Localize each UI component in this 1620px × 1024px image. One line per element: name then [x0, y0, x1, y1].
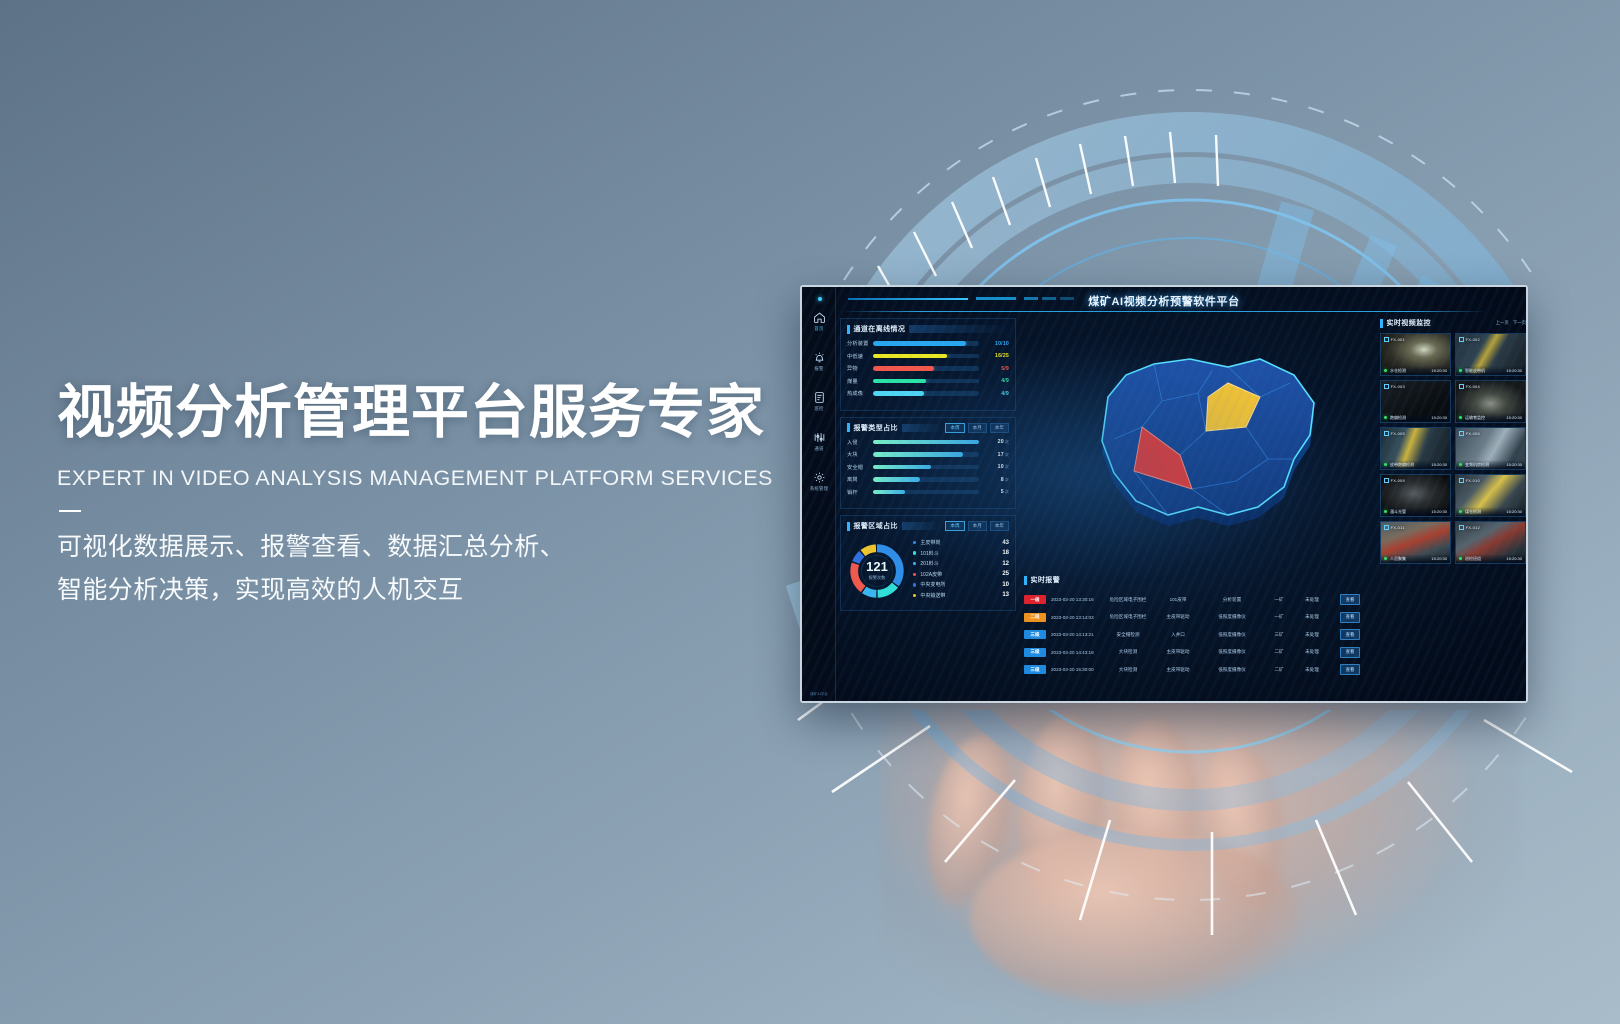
camera-footer: 跑偏检测 15:20:30	[1381, 413, 1450, 422]
cell-status: 未处理	[1296, 649, 1328, 655]
camera-time: 15:20:30	[1506, 415, 1522, 420]
legend-row: 101料斗 18	[913, 550, 1009, 557]
legend-value: 10	[1002, 582, 1009, 588]
panel-header: 报警类型占比 本周本月本年	[847, 423, 1009, 433]
camera-id: FX-009	[1384, 478, 1405, 483]
alarm-type-bar-list: 入侵 20次 大块 17次 安全帽 10次 离岗 8次 销杆 5次	[847, 439, 1009, 496]
alarm-area-period-tab[interactable]: 本周	[945, 521, 964, 531]
alarm-type-period-tab[interactable]: 本周	[945, 423, 964, 433]
legend-label: 102A皮带	[920, 571, 1002, 578]
bar-label: 热成像	[847, 390, 873, 397]
camera-footer: 人员聚集 15:20:30	[1381, 554, 1450, 563]
camera-name: 巡检班组	[1465, 556, 1481, 562]
status-dot-icon	[1384, 369, 1387, 372]
accent-bar	[847, 522, 850, 531]
table-row[interactable]: 一级 2023-03-20 13:30:16 危险区域电子围栏 101皮带 分析…	[1024, 591, 1372, 609]
camera-footer: 巡检班组 15:20:30	[1456, 554, 1525, 563]
camera-tile[interactable]: FX-012 巡检班组 15:20:30	[1455, 521, 1526, 564]
status-badge: 三级	[1024, 648, 1046, 657]
sidebar-item-label: 首页	[814, 326, 823, 332]
cell-mine: 三矿	[1262, 632, 1296, 638]
legend-value: 18	[1002, 550, 1009, 556]
camera-tile[interactable]: FX-010 煤仓检测 15:20:30	[1455, 474, 1526, 517]
view-button[interactable]: 查看	[1340, 594, 1361, 605]
camera-id: FX-004	[1459, 384, 1480, 389]
next-page-button[interactable]: 下一页	[1513, 320, 1526, 326]
cell-status: 未处理	[1296, 632, 1328, 638]
camera-id: FX-006	[1459, 431, 1480, 436]
alarm-type-period-tab[interactable]: 本月	[968, 423, 987, 433]
left-panel-column: 通道在离线情况 分析装置 10/10 中低速 16/25 异物 5/9 煤量 4…	[840, 318, 1016, 617]
bar-value: 4/9	[979, 391, 1009, 397]
bar-fill	[873, 452, 963, 457]
camera-time: 15:20:30	[1431, 368, 1447, 373]
camera-tile[interactable]: FX-011 人员聚集 15:20:30	[1380, 521, 1451, 564]
cell-device: 低照度摄像仪	[1202, 667, 1262, 673]
cell-device: 分析装置	[1202, 597, 1262, 603]
camera-id: FX-005	[1384, 431, 1405, 436]
status-badge: 三级	[1024, 665, 1046, 674]
camera-tile[interactable]: FX-009 溜斗光管 15:20:30	[1380, 474, 1451, 517]
header-strip	[902, 424, 941, 432]
camera-id: FX-003	[1384, 384, 1405, 389]
view-button[interactable]: 查看	[1340, 612, 1361, 623]
channel-bar-row: 分析装置 10/10	[847, 340, 1009, 347]
sidebar: 首页 报警 巡检 通道	[802, 287, 836, 701]
legend-value: 43	[1002, 540, 1009, 546]
period-tabs: 本周本月本年	[945, 423, 1009, 433]
bar-track	[873, 391, 979, 396]
sidebar-item-inspection[interactable]: 巡检	[802, 381, 836, 421]
bar-value: 4/9	[979, 378, 1009, 384]
monitor-frame: 煤矿AI视频分析预警软件平台 首页 报警	[800, 285, 1528, 703]
legend-value: 12	[1002, 561, 1009, 567]
camera-footer: 皮带跑偏检测 15:20:30	[1381, 460, 1450, 469]
legend-value: 13	[1002, 592, 1009, 598]
cell-type: 大块检测	[1102, 649, 1154, 655]
bar-value: 20次	[979, 439, 1009, 445]
bar-track	[873, 440, 979, 445]
cell-action: 查看	[1328, 664, 1372, 675]
bar-fill	[873, 490, 905, 495]
panel-title: 通道在离线情况	[854, 324, 906, 334]
bar-fill	[873, 354, 947, 359]
channel-bar-row: 中低速 16/25	[847, 353, 1009, 360]
donut-center-label: 报警次数	[869, 575, 886, 581]
cell-mine: 一矿	[1262, 614, 1296, 620]
legend-color-dot	[913, 551, 916, 554]
bar-track	[873, 477, 979, 482]
alarm-type-row: 离岗 8次	[847, 476, 1009, 483]
alarm-icon	[813, 351, 826, 364]
legend-row: 201料斗 12	[913, 560, 1009, 567]
alarm-area-panel: 报警区域占比 本周本月本年 121 报警次数 主皮带岗 43	[840, 515, 1016, 611]
bar-track	[873, 490, 979, 495]
sidebar-item-label: 通道	[814, 446, 823, 452]
camera-footer: 水仓检测 15:20:30	[1381, 366, 1450, 375]
cell-device: 低照度摄像仪	[1202, 614, 1262, 620]
cell-place: 主皮带驱动	[1154, 614, 1202, 620]
bar-value: 17次	[979, 452, 1009, 458]
channel-bar-row: 煤量 4/9	[847, 378, 1009, 385]
bar-fill	[873, 440, 979, 445]
status-dot-icon	[1384, 510, 1387, 513]
panel-title: 实时视频监控	[1387, 318, 1431, 328]
channel-bar-row: 热成像 4/9	[847, 390, 1009, 397]
camera-footer: 运输巷监控 15:20:30	[1456, 413, 1525, 422]
cell-time: 2023-03-20 13:14:03	[1046, 615, 1102, 620]
table-row[interactable]: 二级 2023-03-20 13:14:03 危险区域电子围栏 主皮带驱动 低照…	[1024, 609, 1372, 627]
camera-time: 15:20:30	[1431, 509, 1447, 514]
home-icon	[813, 311, 826, 324]
bar-fill	[873, 366, 934, 371]
camera-name: 皮带跑偏检测	[1390, 462, 1414, 468]
cell-mine: 二矿	[1262, 667, 1296, 673]
bar-track	[873, 366, 979, 371]
status-dot-icon	[1384, 557, 1387, 560]
bar-value: 5/9	[979, 366, 1009, 372]
cell-action: 查看	[1328, 629, 1372, 640]
bar-label: 离岗	[847, 476, 873, 483]
cell-type: 安全帽检测	[1102, 632, 1154, 638]
view-button[interactable]: 查看	[1340, 647, 1361, 658]
legend-color-dot	[913, 562, 916, 565]
cell-mine: 二矿	[1262, 649, 1296, 655]
sidebar-logo-text: 煤矿AI平台	[802, 692, 836, 697]
alarm-type-panel: 报警类型占比 本周本月本年 入侵 20次 大块 17次 安全帽 10次 离岗 8	[840, 417, 1016, 510]
bar-value: 5次	[979, 489, 1009, 495]
status-dot-icon	[1459, 416, 1462, 419]
table-row[interactable]: 三级 2023-03-20 14:43:18 大块检测 主皮带驱动 低照度摄像仪…	[1024, 644, 1372, 662]
status-dot-icon	[1459, 557, 1462, 560]
legend-label: 中央变电所	[920, 581, 1002, 588]
video-monitor-panel: 实时视频监控 上一页 下一页 FX-001 水仓检测 15:20:30 FX-0…	[1380, 318, 1526, 697]
prev-page-button[interactable]: 上一页	[1496, 320, 1509, 326]
legend-row: 102A皮带 25	[913, 571, 1009, 578]
channel-status-panel: 通道在离线情况 分析装置 10/10 中低速 16/25 异物 5/9 煤量 4…	[840, 318, 1016, 411]
period-tabs: 本周本月本年	[945, 521, 1009, 531]
bar-fill	[873, 477, 920, 482]
status-badge: 一级	[1024, 595, 1046, 604]
bar-value: 10次	[979, 464, 1009, 470]
bar-label: 入侵	[847, 439, 873, 446]
status-dot-icon	[1459, 510, 1462, 513]
cell-type: 危险区域电子围栏	[1102, 597, 1154, 603]
channel-icon	[813, 431, 826, 444]
camera-time: 15:20:30	[1506, 556, 1522, 561]
camera-time: 15:20:30	[1506, 462, 1522, 467]
legend-value: 25	[1002, 571, 1009, 577]
dashboard: 煤矿AI视频分析预警软件平台 首页 报警	[802, 287, 1526, 701]
camera-id: FX-012	[1459, 525, 1480, 530]
bar-label: 煤量	[847, 378, 873, 385]
alarm-area-period-tab[interactable]: 本月	[968, 521, 987, 531]
hero-subtitle: EXPERT IN VIDEO ANALYSIS MANAGEMENT PLAT…	[57, 466, 847, 491]
bar-track	[873, 465, 979, 470]
bar-value: 16/25	[979, 353, 1009, 359]
cell-place: 主皮带驱动	[1154, 649, 1202, 655]
bar-label: 大块	[847, 451, 873, 458]
legend-row: 主皮带岗 43	[913, 539, 1009, 546]
page-title: 视频分析管理平台服务专家	[57, 383, 847, 444]
camera-name: 运输巷监控	[1465, 415, 1485, 421]
status-dot-icon	[1384, 416, 1387, 419]
header-strip	[909, 325, 1009, 333]
cell-place: 主皮带驱动	[1154, 667, 1202, 673]
bar-track	[873, 341, 979, 346]
bar-label: 中低速	[847, 353, 873, 360]
panel-header: 通道在离线情况	[847, 324, 1009, 334]
channel-bar-row: 异物 5/9	[847, 365, 1009, 372]
camera-time: 15:20:30	[1506, 509, 1522, 514]
sidebar-item-home[interactable]: 首页	[802, 301, 836, 341]
bar-value: 8次	[979, 477, 1009, 483]
sidebar-item-label: 报警	[814, 366, 823, 372]
cell-time: 2023-03-20 14:43:18	[1046, 650, 1102, 655]
view-button[interactable]: 查看	[1340, 629, 1361, 640]
bar-fill	[873, 341, 966, 346]
panel-header: 实时报警	[1024, 575, 1372, 585]
realtime-alarm-panel: 实时报警 一级 2023-03-20 13:30:16 危险区域电子围栏 101…	[1024, 575, 1372, 679]
camera-name: 智能皮带机	[1465, 368, 1485, 374]
cell-type: 危险区域电子围栏	[1102, 614, 1154, 620]
bar-fill	[873, 465, 931, 470]
camera-time: 15:20:30	[1506, 368, 1522, 373]
camera-id: FX-010	[1459, 478, 1480, 483]
camera-name: 变频机房检测	[1465, 462, 1489, 468]
camera-id: FX-002	[1459, 337, 1480, 342]
bar-track	[873, 354, 979, 359]
camera-footer: 溜斗光管 15:20:30	[1381, 507, 1450, 516]
camera-tile[interactable]: FX-001 水仓检测 15:20:30	[1380, 333, 1451, 376]
bar-label: 销杆	[847, 489, 873, 496]
sidebar-item-label: 巡检	[814, 406, 823, 412]
accent-bar	[847, 325, 850, 334]
donut-center: 121 报警次数	[847, 541, 907, 601]
table-row[interactable]: 三级 2023-03-20 15:30:00 大块检测 主皮带驱动 低照度摄像仪…	[1024, 661, 1372, 679]
video-grid: FX-001 水仓检测 15:20:30 FX-002 智能皮带机 15:20:…	[1380, 333, 1526, 564]
legend-label: 101料斗	[920, 550, 1002, 557]
sidebar-item-channel[interactable]: 通道	[802, 421, 836, 461]
sidebar-item-alarm[interactable]: 报警	[802, 341, 836, 381]
cell-status: 未处理	[1296, 597, 1328, 603]
table-row[interactable]: 三级 2023-03-20 14:13:21 安全帽检测 入井口 低照度摄像仪 …	[1024, 626, 1372, 644]
cell-type: 大块检测	[1102, 667, 1154, 673]
camera-id: FX-001	[1384, 337, 1405, 342]
camera-tile[interactable]: FX-002 智能皮带机 15:20:30	[1455, 333, 1526, 376]
camera-tile[interactable]: FX-005 皮带跑偏检测 15:20:30	[1380, 427, 1451, 470]
alarm-type-row: 大块 17次	[847, 451, 1009, 458]
cell-action: 查看	[1328, 594, 1372, 605]
sidebar-item-system[interactable]: 系统管理	[802, 461, 836, 501]
cell-time: 2023-03-20 14:13:21	[1046, 632, 1102, 637]
view-button[interactable]: 查看	[1340, 664, 1361, 675]
status-badge: 二级	[1024, 613, 1046, 622]
status-badge: 三级	[1024, 630, 1046, 639]
dashboard-header: 煤矿AI视频分析预警软件平台	[802, 287, 1526, 314]
camera-tile[interactable]: FX-004 运输巷监控 15:20:30	[1455, 380, 1526, 423]
cell-mine: 一矿	[1262, 597, 1296, 603]
camera-time: 15:20:30	[1431, 415, 1447, 420]
cell-device: 低照度摄像仪	[1202, 649, 1262, 655]
legend-color-dot	[913, 573, 916, 576]
camera-footer: 智能皮带机 15:20:30	[1456, 366, 1525, 375]
camera-name: 水仓检测	[1390, 368, 1406, 374]
bar-track	[873, 379, 979, 384]
sidebar-item-label: 系统管理	[810, 486, 828, 492]
cell-status: 未处理	[1296, 667, 1328, 673]
accent-bar	[1380, 319, 1383, 328]
legend-color-dot	[913, 583, 916, 586]
province-map[interactable]	[1022, 323, 1377, 573]
camera-tile[interactable]: FX-003 跑偏检测 15:20:30	[1380, 380, 1451, 423]
panel-title: 报警类型占比	[854, 423, 898, 433]
map-svg	[1022, 323, 1377, 573]
alarm-type-period-tab[interactable]: 本年	[990, 423, 1009, 433]
bar-label: 分析装置	[847, 340, 873, 347]
donut-chart: 121 报警次数	[847, 541, 907, 601]
legend-label: 201料斗	[920, 560, 1002, 567]
status-dot-icon	[1459, 463, 1462, 466]
hero-desc-line-2: 智能分析决策，实现高效的人机交互	[57, 569, 847, 612]
bar-fill	[873, 391, 924, 396]
camera-id: FX-011	[1384, 525, 1405, 530]
camera-name: 煤仓检测	[1465, 509, 1481, 515]
camera-name: 溜斗光管	[1390, 509, 1406, 515]
cell-device: 低照度摄像仪	[1202, 632, 1262, 638]
legend-label: 主皮带岗	[920, 539, 1002, 546]
camera-name: 人员聚集	[1390, 556, 1406, 562]
camera-time: 15:20:30	[1431, 556, 1447, 561]
cell-place: 入井口	[1154, 632, 1202, 638]
dashboard-title: 煤矿AI视频分析预警软件平台	[802, 293, 1526, 309]
bar-value: 10/10	[979, 341, 1009, 347]
bar-label: 安全帽	[847, 464, 873, 471]
alarm-type-row: 入侵 20次	[847, 439, 1009, 446]
donut-chart-wrapper: 121 报警次数 主皮带岗 43 101料斗 18 201料斗 12 102A皮…	[847, 537, 1009, 603]
legend-row: 中央输送带 13	[913, 592, 1009, 599]
bar-label: 异物	[847, 365, 873, 372]
bar-fill	[873, 379, 926, 384]
cell-status: 未处理	[1296, 614, 1328, 620]
header-strip	[902, 522, 941, 530]
accent-bar	[847, 423, 850, 432]
accent-bar	[1024, 576, 1027, 585]
status-dot-icon	[1384, 463, 1387, 466]
legend-row: 中央变电所 10	[913, 581, 1009, 588]
alarm-area-period-tab[interactable]: 本年	[990, 521, 1009, 531]
divider	[59, 510, 81, 512]
camera-tile[interactable]: FX-006 变频机房检测 15:20:30	[1455, 427, 1526, 470]
alarm-type-row: 安全帽 10次	[847, 464, 1009, 471]
gear-icon	[813, 471, 826, 484]
panel-header: 报警区域占比 本周本月本年	[847, 521, 1009, 531]
hero-desc-line-1: 可视化数据展示、报警查看、数据汇总分析、	[57, 526, 847, 569]
video-pager: 上一页 下一页	[1496, 320, 1526, 326]
cell-time: 2023-03-20 13:30:16	[1046, 597, 1102, 602]
legend-color-dot	[913, 541, 916, 544]
legend-color-dot	[913, 594, 916, 597]
inspection-icon	[813, 391, 826, 404]
panel-title: 报警区域占比	[854, 521, 898, 531]
cell-time: 2023-03-20 15:30:00	[1046, 667, 1102, 672]
panel-title: 实时报警	[1031, 575, 1061, 585]
hero-copy: 视频分析管理平台服务专家 EXPERT IN VIDEO ANALYSIS MA…	[57, 383, 847, 612]
panel-header: 实时视频监控 上一页 下一页	[1380, 318, 1526, 328]
camera-footer: 变频机房检测 15:20:30	[1456, 460, 1525, 469]
camera-time: 15:20:30	[1431, 462, 1447, 467]
donut-center-value: 121	[866, 560, 888, 573]
bar-track	[873, 452, 979, 457]
cell-action: 查看	[1328, 612, 1372, 623]
status-dot-icon	[1459, 369, 1462, 372]
channel-bar-list: 分析装置 10/10 中低速 16/25 异物 5/9 煤量 4/9 热成像 4…	[847, 340, 1009, 397]
cell-action: 查看	[1328, 647, 1372, 658]
legend-label: 中央输送带	[920, 592, 1002, 599]
donut-legend: 主皮带岗 43 101料斗 18 201料斗 12 102A皮带 25 中央变电…	[913, 539, 1009, 603]
camera-name: 跑偏检测	[1390, 415, 1406, 421]
camera-footer: 煤仓检测 15:20:30	[1456, 507, 1525, 516]
alarm-type-row: 销杆 5次	[847, 489, 1009, 496]
alarm-table: 一级 2023-03-20 13:30:16 危险区域电子围栏 101皮带 分析…	[1024, 591, 1372, 679]
cell-place: 101皮带	[1154, 597, 1202, 603]
